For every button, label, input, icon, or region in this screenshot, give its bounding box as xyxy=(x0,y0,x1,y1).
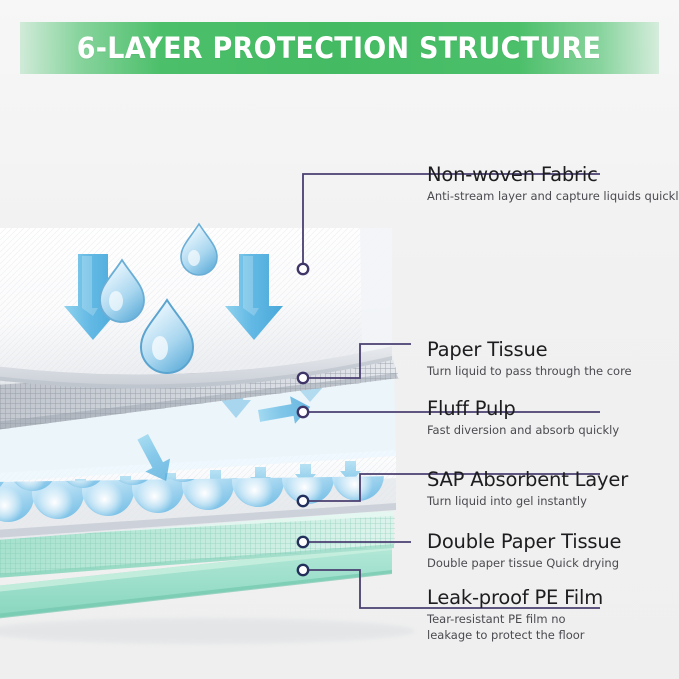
callout-title: Double Paper Tissue xyxy=(427,531,621,553)
callout-double-paper-tissue: Double Paper Tissue Double paper tissue … xyxy=(427,531,621,572)
callout-subtitle: Turn liquid into gel instantly xyxy=(427,494,628,510)
header-banner: 6-LAYER PROTECTION STRUCTURE xyxy=(20,22,659,74)
anchor-double-tissue xyxy=(298,537,308,547)
callout-sap-absorbent-layer: SAP Absorbent Layer Turn liquid into gel… xyxy=(427,469,628,510)
anchor-fluff-pulp xyxy=(298,407,308,417)
page-title: 6-LAYER PROTECTION STRUCTURE xyxy=(77,31,602,65)
callout-title: Leak-proof PE Film xyxy=(427,587,612,609)
callout-fluff-pulp: Fluff Pulp Fast diversion and absorb qui… xyxy=(427,398,619,439)
anchor-non-woven xyxy=(298,264,308,274)
callout-title: Fluff Pulp xyxy=(427,398,619,420)
callout-title: SAP Absorbent Layer xyxy=(427,469,628,491)
anchor-paper-tissue xyxy=(298,373,308,383)
callout-subtitle: Anti-stream layer and capture liquids qu… xyxy=(427,189,679,205)
anchor-sap xyxy=(298,496,308,506)
callout-subtitle: Tear-resistant PE film no leakage to pro… xyxy=(427,612,612,643)
callout-leak-proof-pe-film: Leak-proof PE Film Tear-resistant PE fil… xyxy=(427,587,612,643)
callout-non-woven-fabric: Non-woven Fabric Anti-stream layer and c… xyxy=(427,164,679,205)
callout-title: Paper Tissue xyxy=(427,339,632,361)
anchor-pe-film xyxy=(298,565,308,575)
callout-subtitle: Double paper tissue Quick drying xyxy=(427,556,621,572)
infographic-root: 6-LAYER PROTECTION STRUCTURE xyxy=(0,0,679,679)
callout-title: Non-woven Fabric xyxy=(427,164,679,186)
callout-subtitle: Fast diversion and absorb quickly xyxy=(427,423,619,439)
callout-subtitle: Turn liquid to pass through the core xyxy=(427,364,632,380)
callout-paper-tissue: Paper Tissue Turn liquid to pass through… xyxy=(427,339,632,380)
